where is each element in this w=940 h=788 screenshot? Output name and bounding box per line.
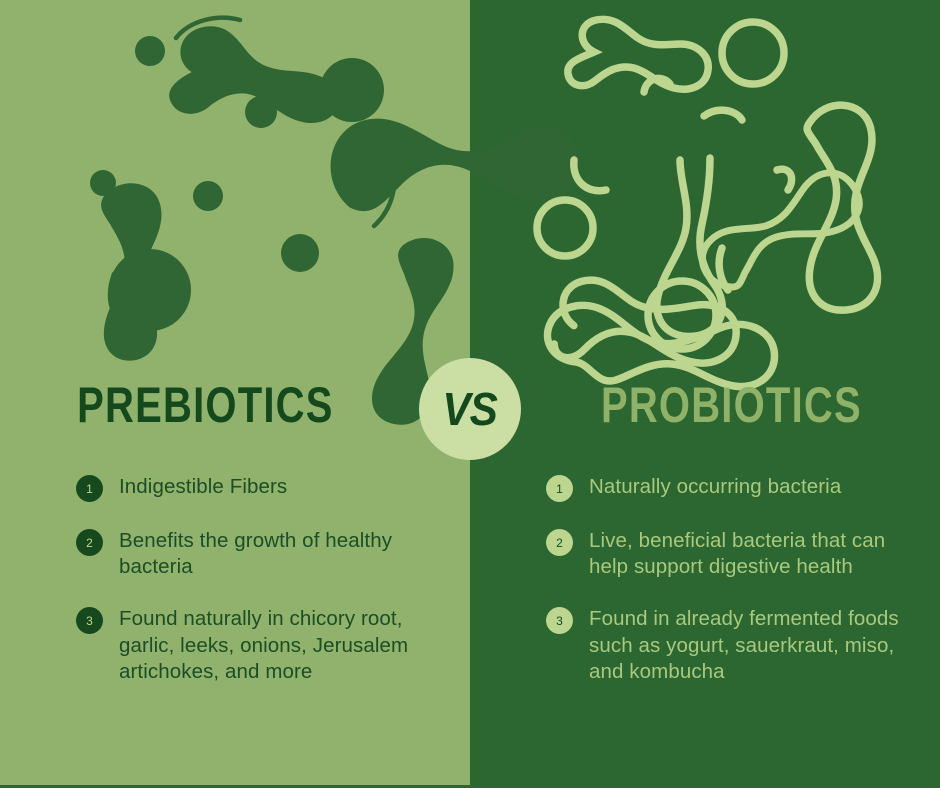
vs-badge: VS xyxy=(419,358,521,460)
left-panel-title: PREBIOTICS xyxy=(47,364,423,446)
list-item-text: Naturally occurring bacteria xyxy=(589,474,841,500)
list-item-text: Benefits the growth of healthy bacteria xyxy=(119,528,449,580)
list-item-text: Indigestible Fibers xyxy=(119,474,287,500)
list-item-number: 1 xyxy=(546,475,573,502)
list-item-number: 3 xyxy=(546,607,573,634)
list-item: 3 Found in already fermented foods such … xyxy=(546,606,940,685)
right-panel-title: PROBIOTICS xyxy=(517,364,893,446)
bacteria-cluster-outline-icon xyxy=(534,8,894,353)
list-item: 2 Live, beneficial bacteria that can hel… xyxy=(546,528,940,580)
left-feature-list: 1 Indigestible Fibers 2 Benefits the gro… xyxy=(76,474,476,685)
list-item: 1 Indigestible Fibers xyxy=(76,474,476,502)
list-item-number: 1 xyxy=(76,475,103,502)
list-item: 1 Naturally occurring bacteria xyxy=(546,474,940,502)
list-item-text: Found naturally in chicory root, garlic,… xyxy=(119,606,449,685)
list-item-number: 2 xyxy=(76,529,103,556)
infographic-canvas: PREBIOTICS PROBIOTICS VS 1 Indigestible … xyxy=(0,0,940,788)
list-item: 3 Found naturally in chicory root, garli… xyxy=(76,606,476,685)
bacteria-cluster-filled-icon xyxy=(78,8,418,348)
list-item-number: 2 xyxy=(546,529,573,556)
right-feature-list: 1 Naturally occurring bacteria 2 Live, b… xyxy=(546,474,940,685)
vs-badge-label: VS xyxy=(443,382,498,436)
list-item-text: Found in already fermented foods such as… xyxy=(589,606,919,685)
list-item: 2 Benefits the growth of healthy bacteri… xyxy=(76,528,476,580)
list-item-text: Live, beneficial bacteria that can help … xyxy=(589,528,919,580)
list-item-number: 3 xyxy=(76,607,103,634)
